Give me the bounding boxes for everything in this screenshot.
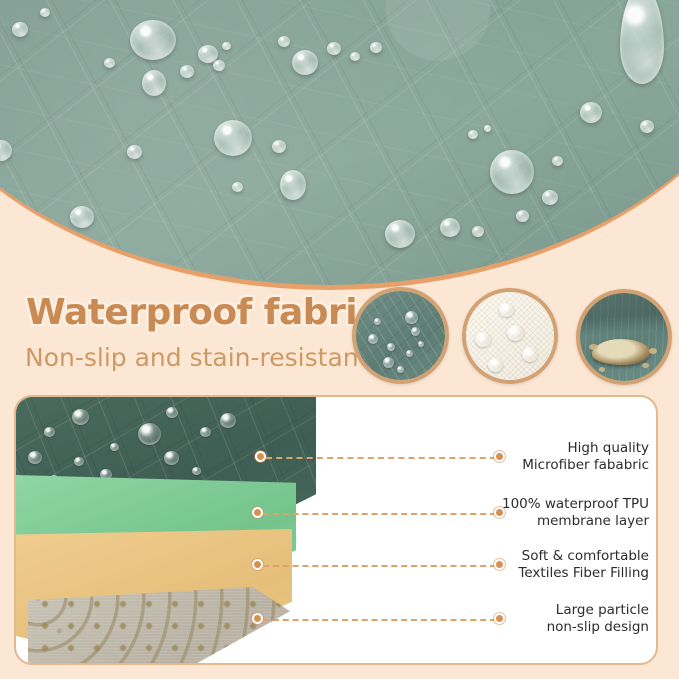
water-droplet xyxy=(138,423,161,445)
label-line-2: Microfiber fababric xyxy=(346,457,649,474)
water-bead xyxy=(488,358,503,372)
water-droplet xyxy=(180,65,194,78)
inset-water-beading xyxy=(352,287,449,384)
water-droplet xyxy=(350,52,360,61)
water-droplet xyxy=(370,42,382,53)
water-droplet xyxy=(405,311,418,324)
label-line-1: 100% waterproof TPU xyxy=(346,496,649,513)
water-droplet xyxy=(192,467,201,475)
water-droplet xyxy=(213,60,225,71)
label-line-2: membrane layer xyxy=(346,513,649,530)
coffee-spill-pool xyxy=(592,339,650,365)
water-droplet xyxy=(440,218,460,237)
water-droplet xyxy=(387,343,395,351)
water-droplet xyxy=(385,220,415,248)
water-droplet xyxy=(222,42,231,50)
water-droplet xyxy=(127,145,142,159)
water-droplet-streak xyxy=(620,0,664,84)
callout-dot-layer-1 xyxy=(255,451,266,462)
label-layer-non-slip-bottom: Large particle non-slip design xyxy=(346,602,649,636)
water-droplet xyxy=(74,457,84,466)
coffee-splash xyxy=(589,344,598,350)
label-line-2: non-slip design xyxy=(346,619,649,636)
quilt-panel-shading xyxy=(0,0,679,285)
layer-non-slip-bottom xyxy=(28,587,290,665)
water-droplet xyxy=(640,120,654,133)
hero-photo-area xyxy=(0,0,679,300)
water-droplet xyxy=(232,182,243,192)
water-droplet xyxy=(468,130,478,139)
water-droplet xyxy=(472,226,484,237)
water-droplet xyxy=(40,8,50,17)
label-line-1: High quality xyxy=(346,440,649,457)
water-droplet xyxy=(12,22,28,37)
water-droplet xyxy=(214,120,252,156)
inset-coffee-spill xyxy=(576,289,672,385)
coffee-splash xyxy=(649,348,657,354)
water-droplet xyxy=(110,443,119,451)
water-droplet xyxy=(280,170,306,200)
infographic-root: Waterproof fabric Non-slip and stain-res… xyxy=(0,0,679,679)
inset-cream-fabric-beading xyxy=(462,288,558,384)
label-line-2: Textiles Fiber Filling xyxy=(346,565,649,582)
layer-diagram-panel: High quality Microfiber fababric 100% wa… xyxy=(14,395,658,665)
page-subtitle: Non-slip and stain-resistant xyxy=(25,343,368,372)
water-bead xyxy=(522,347,538,362)
water-droplet xyxy=(411,327,420,336)
water-droplet xyxy=(327,42,341,55)
hero-quilted-fabric-photo xyxy=(0,0,679,290)
water-droplet xyxy=(292,50,318,75)
water-droplet xyxy=(104,58,115,68)
inset-fabric-texture xyxy=(580,293,668,381)
water-droplet xyxy=(490,150,534,194)
callout-dot-layer-4 xyxy=(252,613,263,624)
water-droplet xyxy=(406,350,413,357)
water-droplet xyxy=(220,413,236,428)
label-layer-fiber-filling: Soft & comfortable Textiles Fiber Fillin… xyxy=(346,548,649,582)
water-droplet xyxy=(278,36,290,47)
water-droplet xyxy=(28,451,42,464)
callout-dot-layer-2 xyxy=(252,507,263,518)
label-line-1: Large particle xyxy=(346,602,649,619)
non-slip-particle-dots xyxy=(28,587,290,665)
label-line-1: Soft & comfortable xyxy=(346,548,649,565)
water-droplet xyxy=(44,427,55,437)
label-layer-microfiber-top: High quality Microfiber fababric xyxy=(346,440,649,474)
label-layer-tpu-membrane: 100% waterproof TPU membrane layer xyxy=(346,496,649,530)
water-droplet xyxy=(383,357,394,368)
water-droplet xyxy=(130,20,176,60)
water-droplet xyxy=(542,190,558,205)
water-droplet xyxy=(164,451,179,465)
page-title: Waterproof fabric xyxy=(26,292,378,333)
water-droplet xyxy=(166,407,178,418)
water-droplet xyxy=(72,409,89,425)
water-droplet xyxy=(516,210,529,222)
water-droplet xyxy=(484,125,491,132)
callout-dot-layer-3 xyxy=(252,559,263,570)
water-droplet xyxy=(552,156,563,166)
water-droplet xyxy=(200,427,211,437)
water-droplet xyxy=(374,318,381,325)
exploded-layer-stack xyxy=(16,397,336,663)
water-droplet xyxy=(70,206,94,228)
water-droplet xyxy=(397,366,404,373)
water-droplet xyxy=(142,70,166,96)
water-droplet xyxy=(272,140,286,153)
water-droplet xyxy=(580,102,602,123)
